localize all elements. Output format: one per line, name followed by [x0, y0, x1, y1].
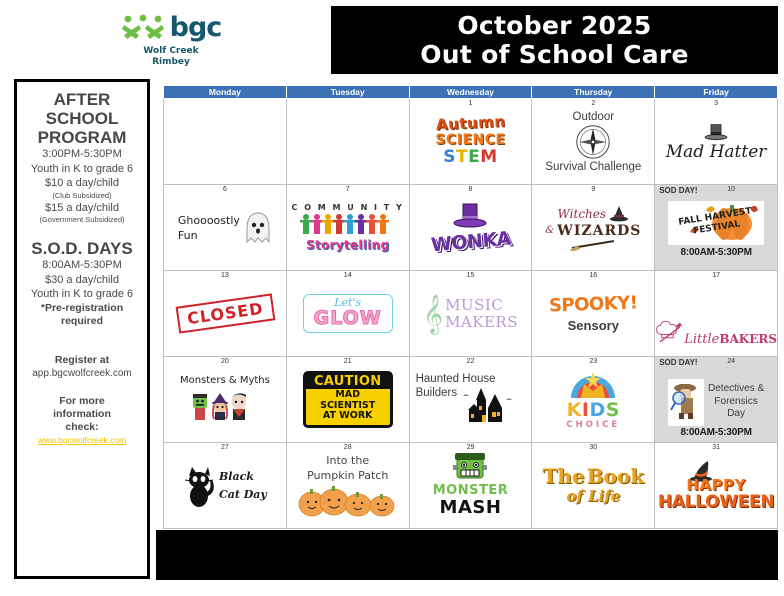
calendar-week-row: 13 CLOSED 14 Let's GLOW 15 𝄞 MUSIC MAKER…	[164, 271, 778, 357]
day-activity-17: Little BAKERS	[655, 271, 777, 347]
sod-day-badge: SOD DAY!	[659, 186, 697, 195]
fun-label: Fun	[178, 228, 240, 243]
calendar-week-row: 27 Black Cat Day	[164, 443, 778, 529]
stem-letter-t: T	[456, 147, 468, 167]
spooky-wordmark: SPOOKY!	[549, 292, 638, 316]
day-activity-15: 𝄞 MUSIC MAKERS	[410, 271, 532, 347]
day-number: 16	[532, 272, 654, 279]
price-club-note: (Club Subsidized)	[22, 191, 142, 201]
ghost-icon	[244, 211, 272, 245]
day-cell-2[interactable]: 2 Outdoor Survival Challenge	[532, 99, 655, 185]
day-activity-10: FALL HARVEST FESTIVAL 8:00AM-5:30PM	[655, 185, 777, 261]
calendar-week-row: 20 Monsters & Myths	[164, 357, 778, 443]
broom-wand-icon	[568, 239, 618, 251]
kids-wordmark: KIDS	[567, 400, 620, 420]
paper-people-chain-icon	[300, 212, 396, 238]
day-number: 23	[532, 358, 654, 365]
price-government-note: (Government Subsidized)	[22, 215, 142, 225]
calendar-week-row: 1 Autumn SCIENCE STEM 2 Outdoor Survival…	[164, 99, 778, 185]
day-activity-28: Into the Pumpkin Patch	[287, 443, 409, 519]
stem-letter-m: M	[480, 147, 497, 167]
sod-time: 8:00AM-5:30PM	[22, 258, 142, 273]
day-cell-17[interactable]: 17 Little BAKERS	[655, 271, 778, 357]
frankenstein-witch-vampire-icons	[189, 391, 261, 423]
logo-subtitle-line1: Wolf Creek	[96, 46, 246, 57]
day-activity-24: Detectives & Forensics Day	[655, 357, 777, 433]
detectives-line2: Forensics	[708, 396, 764, 409]
pumpkin-row-icon	[296, 483, 400, 517]
builders-row: Builders	[416, 386, 514, 428]
cat-day-label: Cat Day	[219, 486, 267, 504]
sensory-label: Sensory	[568, 318, 619, 333]
more-info-line2: information	[22, 408, 142, 421]
outdoor-label: Outdoor	[573, 110, 615, 124]
music-makers-text: MUSIC MAKERS	[445, 297, 518, 331]
makers-label: MAKERS	[445, 314, 518, 331]
day-cell-empty	[164, 99, 287, 185]
monster-wordmark: MONSTER	[433, 483, 509, 498]
sod-ages: Youth in K to grade 6	[22, 287, 142, 302]
monster-characters-icons	[189, 391, 261, 427]
calendar-title-banner: October 2025 Out of School Care	[331, 6, 778, 74]
day-cell-9[interactable]: 9 Witches & WIZARDS	[532, 185, 655, 271]
day-cell-30[interactable]: 30 The Book of Life	[532, 443, 655, 529]
after-school-time: 3:00PM-5:30PM	[22, 147, 142, 162]
into-the-label: Into the	[326, 453, 369, 468]
day-cell-29[interactable]: 29 MONSTER MASH	[409, 443, 532, 529]
of-life-label: of Life	[566, 487, 620, 505]
stem-letter-s: S	[443, 147, 456, 167]
day-number: 30	[532, 444, 654, 451]
day-activity-23: KIDS CHOICE	[532, 357, 654, 433]
day-activity-1: Autumn SCIENCE STEM	[410, 99, 532, 175]
weekday-header-monday: Monday	[164, 86, 287, 99]
ghostly-text-block: Ghoooostly Fun	[178, 213, 240, 243]
day-number: 31	[655, 444, 777, 451]
register-url: app.bgcwolfcreek.com	[22, 367, 142, 382]
day-activity-13: CLOSED	[164, 271, 286, 347]
logo-row: bgc	[96, 10, 246, 44]
more-info-line3: check:	[22, 421, 142, 434]
logo-subtitle-line2: Rimbey	[96, 57, 246, 68]
bgc-people-icon	[121, 14, 165, 40]
day-activity-14: Let's GLOW	[287, 271, 409, 347]
day-number: 17	[655, 272, 777, 279]
kids-letter-d: D	[589, 399, 605, 421]
at-work-label: AT WORK	[306, 411, 390, 422]
day-number: 20	[164, 358, 286, 365]
frankenstein-head-icon	[451, 451, 489, 483]
day-number: 22	[410, 358, 532, 365]
day-number: 1	[410, 100, 532, 107]
halloween-wordmark: HALLOWEEN	[658, 493, 774, 511]
caution-sign: CAUTION MAD SCIENTIST AT WORK	[303, 371, 393, 428]
day-activity-30: The Book of Life	[532, 443, 654, 519]
day-number: 10	[727, 186, 735, 193]
compass-icon	[573, 124, 613, 160]
day-activity-7: C O M M U N I T Y Storytelling	[287, 185, 409, 261]
day-cell-27[interactable]: 27 Black Cat Day	[164, 443, 287, 529]
sod-hours: 8:00AM-5:30PM	[655, 427, 777, 438]
after-school-ages: Youth in K to grade 6	[22, 162, 142, 177]
bottom-black-bar	[156, 530, 778, 580]
day-number: 2	[532, 100, 654, 107]
happy-wordmark: HAPPY	[686, 477, 746, 493]
day-cell-16[interactable]: 16 SPOOKY! Sensory	[532, 271, 655, 357]
chef-hat-rolling-pin-icon	[655, 317, 683, 347]
day-number: 6	[164, 186, 286, 193]
after-school-title-line2: SCHOOL	[22, 109, 142, 128]
book-title-row: The Book	[542, 466, 644, 487]
builders-label: Builders	[416, 386, 458, 400]
bgc-wordmark: bgc	[170, 14, 222, 41]
detectives-line3: Day	[708, 408, 764, 421]
more-info-line1: For more	[22, 395, 142, 408]
sidebar-spacer-2	[22, 328, 142, 354]
weekday-header-row: Monday Tuesday Wednesday Thursday Friday	[164, 86, 778, 99]
day-activity-31: HAPPY HALLOWEEN	[655, 443, 777, 519]
choice-label: CHOICE	[566, 420, 620, 430]
day-cell-15[interactable]: 15 𝄞 MUSIC MAKERS	[409, 271, 532, 357]
day-cell-20[interactable]: 20 Monsters & Myths	[164, 357, 287, 443]
detectives-text: Detectives & Forensics Day	[708, 383, 764, 421]
wizards-row: & WIZARDS	[545, 223, 641, 239]
community-label: C O M M U N I T Y	[292, 203, 404, 212]
price-government: $15 a day/child	[22, 201, 142, 216]
witches-label: Witches	[558, 207, 607, 221]
program-info-sidebar: AFTER SCHOOL PROGRAM 3:00PM-5:30PM Youth…	[14, 79, 150, 579]
storytelling-wordmark: Storytelling	[306, 238, 389, 252]
register-label: Register at	[22, 354, 142, 367]
prereg-note-line2: required	[22, 315, 142, 328]
day-number: 9	[532, 186, 654, 193]
day-cell-3[interactable]: 3 Mad Hatter	[655, 99, 778, 185]
science-wordmark: SCIENCE	[435, 133, 505, 148]
day-activity-20: Monsters & Myths	[164, 357, 286, 433]
title-month-year: October 2025	[457, 11, 651, 40]
ampersand: &	[545, 225, 554, 236]
day-cell-empty	[286, 99, 409, 185]
day-cell-13[interactable]: 13 CLOSED	[164, 271, 287, 357]
day-cell-21[interactable]: 21 CAUTION MAD SCIENTIST AT WORK	[286, 357, 409, 443]
day-activity-8: WONKA	[410, 185, 532, 261]
black-cat-text: Black Cat Day	[219, 468, 267, 504]
day-cell-23[interactable]: 23 KIDS CHOICE	[532, 357, 655, 443]
fall-harvest-graphic: FALL HARVEST FESTIVAL	[668, 201, 764, 245]
after-school-title-line1: AFTER	[22, 90, 142, 109]
mad-hatter-wordmark: Mad Hatter	[666, 143, 767, 161]
ghostly-label: Ghoooostly	[178, 213, 240, 228]
wizards-label: WIZARDS	[557, 223, 641, 239]
weekday-header-thursday: Thursday	[532, 86, 655, 99]
day-number: 3	[655, 100, 777, 107]
mash-wordmark: MASH	[440, 498, 502, 517]
stem-letter-e: E	[468, 147, 480, 167]
the-label: The	[542, 466, 584, 487]
logo-subtitle: Wolf Creek Rimbey	[96, 46, 246, 67]
day-cell-24-sod[interactable]: SOD DAY! 24	[655, 357, 778, 443]
autumn-wordmark: Autumn	[435, 115, 505, 134]
day-cell-1[interactable]: 1 Autumn SCIENCE STEM	[409, 99, 532, 185]
sod-hours: 8:00AM-5:30PM	[680, 247, 751, 258]
weekday-header-tuesday: Tuesday	[286, 86, 409, 99]
little-label: Little	[684, 332, 719, 347]
day-cell-8[interactable]: 8 WONKA	[409, 185, 532, 271]
day-cell-7[interactable]: 7 C O M M U N I T Y Storytelling	[286, 185, 409, 271]
day-cell-22[interactable]: 22 Haunted House Builders	[409, 357, 532, 443]
prereg-note-line1: *Pre-registration	[22, 302, 142, 315]
pumpkin-patch-label: Pumpkin Patch	[307, 468, 388, 483]
day-activity-22: Haunted House Builders	[410, 357, 532, 433]
sod-day-badge: SOD DAY!	[659, 358, 697, 367]
day-number: 14	[287, 272, 409, 279]
purple-top-hat-icon	[452, 203, 488, 231]
day-activity-21: CAUTION MAD SCIENTIST AT WORK	[287, 357, 409, 433]
sod-days-title: S.O.D. DAYS	[22, 239, 142, 258]
day-cell-14[interactable]: 14 Let's GLOW	[286, 271, 409, 357]
day-activity-2: Outdoor Survival Challenge	[532, 99, 654, 175]
kids-letter-s: S	[606, 399, 620, 421]
day-number: 7	[287, 186, 409, 193]
book-label: Book	[587, 466, 644, 487]
monsters-myths-label: Monsters & Myths	[180, 373, 270, 388]
closed-stamp: CLOSED	[175, 293, 275, 333]
crown-rainbow-icon	[568, 370, 618, 400]
sidebar-spacer-3	[22, 381, 142, 395]
day-number: 27	[164, 444, 286, 451]
day-cell-10-sod[interactable]: SOD DAY! 10 FALL HARVEST FESTI	[655, 185, 778, 271]
detective-magnifier-icon	[669, 380, 703, 420]
day-cell-28[interactable]: 28 Into the Pumpkin Patch	[286, 443, 409, 529]
day-activity-9: Witches & WIZARDS	[532, 185, 654, 261]
calendar-week-row: 6 Ghoooostly Fun 7 C O M M U N I T Y	[164, 185, 778, 271]
monthly-calendar-grid: Monday Tuesday Wednesday Thursday Friday…	[163, 85, 778, 529]
glow-wordmark: GLOW	[314, 308, 382, 329]
day-number: 21	[287, 358, 409, 365]
price-club: $10 a day/child	[22, 176, 142, 191]
stem-wordmark: STEM	[443, 149, 497, 167]
treble-clef-icon: 𝄞	[423, 299, 443, 329]
day-activity-6: Ghoooostly Fun	[164, 185, 286, 261]
haunted-house-label: Haunted House	[416, 372, 496, 386]
bakers-label: BAKERS	[719, 332, 777, 346]
caution-label: CAUTION	[306, 374, 390, 389]
day-cell-31[interactable]: 31 HAPPY HALLOWEEN	[655, 443, 778, 529]
detectives-line1: Detectives &	[708, 383, 764, 396]
wonka-wordmark: WONKA	[430, 227, 512, 256]
day-activity-16: SPOOKY! Sensory	[532, 271, 654, 347]
music-label: MUSIC	[445, 297, 518, 314]
day-number: 29	[410, 444, 532, 451]
witch-hat-icon	[609, 205, 629, 223]
haunted-house-icon	[459, 386, 513, 428]
sidebar-spacer-1	[22, 225, 142, 239]
black-label: Black	[219, 468, 267, 486]
day-number: 15	[410, 272, 532, 279]
lets-glow-sign: Let's GLOW	[303, 294, 393, 333]
day-number: 28	[287, 444, 409, 451]
website-link[interactable]: www.bgcwolfcreek.com	[22, 434, 142, 446]
day-activity-29: MONSTER MASH	[410, 443, 532, 519]
top-hat-icon	[703, 123, 729, 143]
detective-graphic	[668, 379, 704, 426]
title-subtitle: Out of School Care	[420, 40, 689, 69]
kids-letter-k: K	[567, 399, 582, 421]
day-number: 8	[410, 186, 532, 193]
little-bakers-text: Little BAKERS	[684, 332, 777, 347]
survival-challenge-label: Survival Challenge	[545, 160, 641, 174]
day-activity-27: Black Cat Day	[164, 443, 286, 519]
sod-price: $30 a day/child	[22, 273, 142, 288]
black-cat-icon	[183, 464, 215, 508]
day-number: 24	[727, 358, 735, 365]
day-activity-3: Mad Hatter	[655, 99, 777, 175]
day-cell-6[interactable]: 6 Ghoooostly Fun	[164, 185, 287, 271]
weekday-header-friday: Friday	[655, 86, 778, 99]
day-number: 13	[164, 272, 286, 279]
after-school-title-line3: PROGRAM	[22, 128, 142, 147]
bgc-logo: bgc Wolf Creek Rimbey	[96, 10, 246, 72]
witches-row: Witches	[558, 205, 630, 223]
weekday-header-wednesday: Wednesday	[409, 86, 532, 99]
